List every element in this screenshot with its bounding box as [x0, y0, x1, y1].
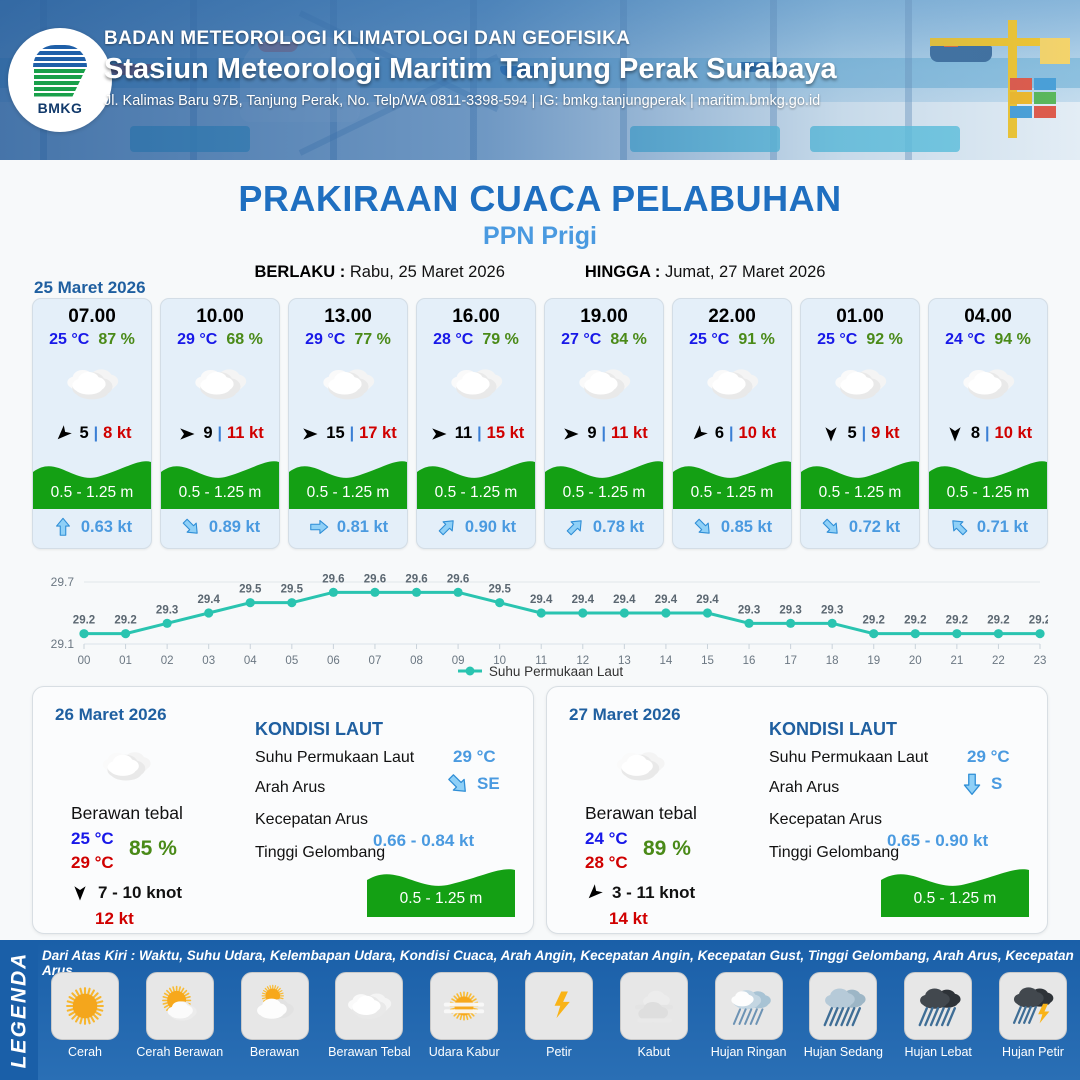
- air-temperature: 27 °C: [561, 331, 601, 349]
- svg-text:29.3: 29.3: [156, 604, 178, 616]
- sst-value: 29 °C: [967, 747, 1010, 767]
- current-row: 0.63 kt: [33, 512, 151, 542]
- panel-wind-range: 7 - 10 knot: [98, 883, 182, 903]
- daily-summary-panels: 26 Maret 2026 Berawan tebal 25 °C 29 °C …: [32, 686, 1048, 934]
- berawan-tebal-icon: [341, 978, 397, 1034]
- wave-section: 0.5 - 1.25 m: [929, 453, 1047, 509]
- berawan-tebal-icon: [443, 351, 509, 417]
- forecast-card[interactable]: 01.00 25 °C 92 % 5 |: [800, 298, 920, 549]
- legend-item: Hujan Sedang: [800, 972, 886, 1059]
- weather-condition-icon: [929, 353, 1047, 415]
- sea-condition-title: KONDISI LAUT: [769, 719, 897, 740]
- wave-height-band: [367, 861, 515, 917]
- humidity: 87 %: [98, 331, 134, 349]
- forecast-card[interactable]: 22.00 25 °C 91 % 6 |: [672, 298, 792, 549]
- current-speed: 0.90 kt: [465, 518, 516, 537]
- wind-row: 8 | 10 kt: [929, 424, 1047, 443]
- sst-value: 29 °C: [453, 747, 496, 767]
- air-temperature: 28 °C: [433, 331, 473, 349]
- forecast-time: 16.00: [417, 306, 535, 328]
- gust-speed: 11 kt: [227, 424, 264, 443]
- panel-weather-icon: [95, 735, 157, 802]
- wind-speed: 6: [715, 424, 724, 443]
- forecast-day-label: 25 Maret 2026: [34, 278, 146, 298]
- weather-condition-icon: [289, 353, 407, 415]
- svg-text:29.4: 29.4: [655, 594, 678, 606]
- current-direction-arrow-E: [308, 516, 330, 538]
- udara-kabur-icon: [436, 978, 492, 1034]
- wave-height: 0.5 - 1.25 m: [289, 484, 407, 502]
- legend-item-label: Udara Kabur: [429, 1045, 500, 1059]
- legend-item: Hujan Petir: [990, 972, 1076, 1059]
- panel-weather-icon: [609, 735, 671, 802]
- chart-legend-label: Suhu Permukaan Laut: [489, 664, 623, 679]
- temp-humidity-row: 25 °C 87 %: [33, 331, 151, 349]
- legend-bar: LEGENDA Dari Atas Kiri : Waktu, Suhu Uda…: [0, 940, 1080, 1080]
- wind-direction-arrow-E: [560, 425, 582, 443]
- current-direction-value: S: [991, 774, 1002, 794]
- wind-separator: |: [602, 425, 606, 443]
- current-direction-value: SE: [477, 774, 500, 794]
- svg-text:29.6: 29.6: [364, 573, 386, 585]
- legend-icon-box: [620, 972, 688, 1040]
- wave-height: 0.5 - 1.25 m: [545, 484, 663, 502]
- legend-icon-box: [715, 972, 783, 1040]
- chart-svg: 29.729.100010203040506070809101112131415…: [32, 560, 1048, 680]
- wave-section: 0.5 - 1.25 m: [801, 453, 919, 509]
- svg-text:29.4: 29.4: [530, 594, 553, 606]
- current-row: 0.72 kt: [801, 512, 919, 542]
- berawan-tebal-icon: [699, 351, 765, 417]
- current-speed: 0.81 kt: [337, 518, 388, 537]
- current-direction-label: Arah Arus: [769, 779, 839, 797]
- current-speed: 0.72 kt: [849, 518, 900, 537]
- current-speed-value: 0.66 - 0.84 kt: [373, 831, 474, 851]
- current-direction-arrow-S: [959, 771, 985, 797]
- humidity: 91 %: [738, 331, 774, 349]
- temp-humidity-row: 27 °C 84 %: [545, 331, 663, 349]
- wind-separator: |: [218, 425, 222, 443]
- wind-row: 5 | 8 kt: [33, 424, 151, 443]
- wave-height: 0.5 - 1.25 m: [161, 484, 279, 502]
- legend-icon-box: [51, 972, 119, 1040]
- air-temperature: 25 °C: [689, 331, 729, 349]
- forecast-time: 01.00: [801, 306, 919, 328]
- daily-summary-panel: 26 Maret 2026 Berawan tebal 25 °C 29 °C …: [32, 686, 534, 934]
- current-speed: 0.63 kt: [81, 518, 132, 537]
- current-speed: 0.71 kt: [977, 518, 1028, 537]
- wind-direction-arrow-SW: [688, 425, 710, 443]
- wind-speed: 15: [326, 424, 344, 443]
- valid-from-label: BERLAKU :: [255, 263, 346, 281]
- current-direction-arrow-SE: [692, 516, 714, 538]
- wind-separator: |: [862, 425, 866, 443]
- logo-text: BMKG: [38, 100, 83, 116]
- legend-icon-box: [241, 972, 309, 1040]
- sst-line-chart: 29.729.100010203040506070809101112131415…: [32, 560, 1048, 680]
- gust-speed: 15 kt: [487, 424, 525, 443]
- wave-section: 0.5 - 1.25 m: [161, 453, 279, 509]
- panel-condition: Berawan tebal: [585, 803, 697, 824]
- agency-name: BADAN METEOROLOGI KLIMATOLOGI DAN GEOFIS…: [104, 28, 1064, 50]
- legend-item-label: Kabut: [637, 1045, 670, 1059]
- air-temperature: 29 °C: [305, 331, 345, 349]
- svg-text:29.5: 29.5: [281, 584, 304, 596]
- weather-condition-icon: [545, 353, 663, 415]
- wave-section: 0.5 - 1.25 m: [417, 453, 535, 509]
- wind-row: 6 | 10 kt: [673, 424, 791, 443]
- legend-item-label: Cerah: [68, 1045, 102, 1059]
- wind-direction-arrow-E: [176, 425, 198, 443]
- berawan-tebal-icon: [187, 351, 253, 417]
- wind-row: 5 | 9 kt: [801, 424, 919, 443]
- forecast-card-strip: 07.00 25 °C 87 % 5 |: [32, 298, 1048, 549]
- legend-icon-box: [999, 972, 1067, 1040]
- humidity: 68 %: [226, 331, 262, 349]
- svg-text:29.2: 29.2: [946, 615, 968, 627]
- svg-text:29.1: 29.1: [51, 637, 75, 651]
- panel-wave-section: 0.5 - 1.25 m: [367, 865, 515, 917]
- berawan-tebal-icon: [315, 351, 381, 417]
- panel-gust: 14 kt: [609, 909, 648, 929]
- berawan-icon: [247, 978, 303, 1034]
- panel-gust: 12 kt: [95, 909, 134, 929]
- legend-item: Kabut: [611, 972, 697, 1059]
- chart-legend: Suhu Permukaan Laut: [0, 664, 1080, 680]
- wind-direction-arrow-SW: [583, 884, 605, 902]
- forecast-card[interactable]: 04.00 24 °C 94 % 8 |: [928, 298, 1048, 549]
- kabut-icon: [626, 978, 682, 1034]
- legend-item-label: Cerah Berawan: [136, 1045, 223, 1059]
- header-text-block: BADAN METEOROLOGI KLIMATOLOGI DAN GEOFIS…: [104, 28, 1064, 109]
- legend-icon-box: [335, 972, 403, 1040]
- air-temperature: 25 °C: [49, 331, 89, 349]
- svg-text:29.4: 29.4: [613, 594, 636, 606]
- hujan-lebat-icon: [910, 978, 966, 1034]
- humidity: 79 %: [482, 331, 518, 349]
- wind-speed: 8: [971, 424, 980, 443]
- svg-text:29.4: 29.4: [572, 594, 595, 606]
- contact-line: Jl. Kalimas Baru 97B, Tanjung Perak, No.…: [104, 93, 1064, 109]
- panel-humidity: 85 %: [129, 837, 177, 861]
- current-row: 0.78 kt: [545, 512, 663, 542]
- forecast-card[interactable]: 19.00 27 °C 84 % 9 |: [544, 298, 664, 549]
- current-speed-label: Kecepatan Arus: [255, 811, 368, 829]
- current-direction-arrow-SE: [445, 771, 471, 797]
- svg-text:29.7: 29.7: [51, 575, 75, 589]
- panel-wave-value: 0.5 - 1.25 m: [881, 890, 1029, 908]
- wind-separator: |: [729, 425, 733, 443]
- humidity: 84 %: [610, 331, 646, 349]
- panel-temp-max: 29 °C: [71, 853, 114, 873]
- legend-side-text: LEGENDA: [7, 952, 31, 1069]
- wind-speed: 9: [587, 424, 596, 443]
- current-direction-value-row: S: [959, 771, 1002, 797]
- wave-section: 0.5 - 1.25 m: [33, 453, 151, 509]
- berawan-tebal-icon: [571, 351, 637, 417]
- svg-text:29.5: 29.5: [488, 584, 511, 596]
- current-direction-arrow-N: [52, 516, 74, 538]
- legend-item: Cerah: [42, 972, 128, 1059]
- wind-direction-arrow-E: [428, 425, 450, 443]
- panel-wind-row: 7 - 10 knot: [69, 883, 182, 903]
- panel-date: 27 Maret 2026: [569, 705, 681, 725]
- valid-until: HINGGA : Jumat, 27 Maret 2026: [585, 263, 826, 282]
- wave-section: 0.5 - 1.25 m: [545, 453, 663, 509]
- weather-condition-icon: [673, 353, 791, 415]
- legend-item-label: Berawan Tebal: [328, 1045, 410, 1059]
- logo-leaf-icon: [34, 69, 86, 97]
- forecast-time: 19.00: [545, 306, 663, 328]
- svg-text:29.5: 29.5: [239, 584, 262, 596]
- air-temperature: 24 °C: [945, 331, 985, 349]
- daily-summary-panel: 27 Maret 2026 Berawan tebal 24 °C 28 °C …: [546, 686, 1048, 934]
- legend-item-label: Petir: [546, 1045, 572, 1059]
- valid-from: BERLAKU : Rabu, 25 Maret 2026: [255, 263, 505, 282]
- svg-text:29.6: 29.6: [405, 573, 427, 585]
- page-title: PRAKIRAAN CUACA PELABUHAN: [0, 178, 1080, 220]
- svg-text:29.2: 29.2: [1029, 615, 1048, 627]
- legend-icon-box: [904, 972, 972, 1040]
- wave-height-label: Tinggi Gelombang: [769, 844, 899, 862]
- legend-item: Udara Kabur: [421, 972, 507, 1059]
- current-speed: 0.89 kt: [209, 518, 260, 537]
- current-speed-value: 0.65 - 0.90 kt: [887, 831, 988, 851]
- panel-wind-row: 3 - 11 knot: [583, 883, 695, 903]
- legend-item-label: Hujan Petir: [1002, 1045, 1064, 1059]
- chart-legend-swatch: [457, 665, 483, 680]
- wave-height: 0.5 - 1.25 m: [929, 484, 1047, 502]
- valid-until-value: Jumat, 27 Maret 2026: [665, 263, 826, 281]
- svg-text:29.2: 29.2: [904, 615, 926, 627]
- wind-speed: 9: [203, 424, 212, 443]
- wind-separator: |: [94, 425, 98, 443]
- svg-text:29.6: 29.6: [447, 573, 469, 585]
- legend-item-label: Hujan Sedang: [804, 1045, 883, 1059]
- sea-condition-title: KONDISI LAUT: [255, 719, 383, 740]
- legend-item: Hujan Ringan: [706, 972, 792, 1059]
- air-temperature: 29 °C: [177, 331, 217, 349]
- petir-icon: [531, 978, 587, 1034]
- valid-until-label: HINGGA :: [585, 263, 660, 281]
- berawan-tebal-icon: [955, 351, 1021, 417]
- wave-height: 0.5 - 1.25 m: [673, 484, 791, 502]
- forecast-card[interactable]: 10.00 29 °C 68 % 9 |: [160, 298, 280, 549]
- current-direction-arrow-NW: [948, 516, 970, 538]
- weather-condition-icon: [417, 353, 535, 415]
- legend-item-label: Berawan: [250, 1045, 299, 1059]
- legend-item-label: Hujan Lebat: [904, 1045, 971, 1059]
- panel-date: 26 Maret 2026: [55, 705, 167, 725]
- valid-from-value: Rabu, 25 Maret 2026: [350, 263, 505, 281]
- wind-speed: 11: [455, 424, 472, 443]
- weather-condition-icon: [801, 353, 919, 415]
- forecast-time: 10.00: [161, 306, 279, 328]
- svg-text:29.2: 29.2: [987, 615, 1009, 627]
- forecast-card[interactable]: 16.00 28 °C 79 % 11 |: [416, 298, 536, 549]
- svg-text:29.4: 29.4: [696, 594, 719, 606]
- wave-section: 0.5 - 1.25 m: [673, 453, 791, 509]
- svg-text:29.3: 29.3: [738, 604, 760, 616]
- wind-direction-arrow-E: [299, 425, 321, 443]
- current-direction-value-row: SE: [445, 771, 500, 797]
- temp-humidity-row: 29 °C 77 %: [289, 331, 407, 349]
- temp-humidity-row: 24 °C 94 %: [929, 331, 1047, 349]
- svg-text:29.3: 29.3: [779, 604, 801, 616]
- panel-wind-range: 3 - 11 knot: [612, 883, 695, 903]
- legend-icon-box: [430, 972, 498, 1040]
- legend-item: Cerah Berawan: [137, 972, 223, 1059]
- temp-humidity-row: 25 °C 91 %: [673, 331, 791, 349]
- forecast-card[interactable]: 07.00 25 °C 87 % 5 |: [32, 298, 152, 549]
- wind-speed: 5: [79, 424, 88, 443]
- wind-direction-arrow-SW: [52, 425, 74, 443]
- temp-humidity-row: 29 °C 68 %: [161, 331, 279, 349]
- gust-speed: 10 kt: [995, 424, 1033, 443]
- panel-temp-max: 28 °C: [585, 853, 628, 873]
- legend-item: Berawan: [232, 972, 318, 1059]
- wind-row: 9 | 11 kt: [545, 424, 663, 443]
- svg-text:29.2: 29.2: [863, 615, 885, 627]
- svg-text:29.3: 29.3: [821, 604, 843, 616]
- sst-label: Suhu Permukaan Laut: [255, 749, 414, 767]
- panel-temp-min: 25 °C: [71, 829, 114, 849]
- wave-height: 0.5 - 1.25 m: [33, 484, 151, 502]
- berawan-tebal-icon: [827, 351, 893, 417]
- humidity: 77 %: [354, 331, 390, 349]
- gust-speed: 9 kt: [871, 424, 899, 443]
- temp-humidity-row: 25 °C 92 %: [801, 331, 919, 349]
- panel-humidity: 89 %: [643, 837, 691, 861]
- current-direction-label: Arah Arus: [255, 779, 325, 797]
- legend-item-label: Hujan Ringan: [711, 1045, 787, 1059]
- current-direction-arrow-SE: [820, 516, 842, 538]
- weather-condition-icon: [161, 353, 279, 415]
- current-row: 0.71 kt: [929, 512, 1047, 542]
- forecast-time: 07.00: [33, 306, 151, 328]
- wave-height: 0.5 - 1.25 m: [417, 484, 535, 502]
- svg-text:29.6: 29.6: [322, 573, 344, 585]
- current-row: 0.81 kt: [289, 512, 407, 542]
- legend-icon-box: [146, 972, 214, 1040]
- legend-item: Hujan Lebat: [895, 972, 981, 1059]
- wind-row: 15 | 17 kt: [289, 424, 407, 443]
- wind-separator: |: [477, 425, 481, 443]
- wind-direction-arrow-S: [820, 425, 842, 443]
- wave-height-label: Tinggi Gelombang: [255, 844, 385, 862]
- air-temperature: 25 °C: [817, 331, 857, 349]
- wave-section: 0.5 - 1.25 m: [289, 453, 407, 509]
- wave-height: 0.5 - 1.25 m: [801, 484, 919, 502]
- current-direction-arrow-NE: [564, 516, 586, 538]
- wind-row: 9 | 11 kt: [161, 424, 279, 443]
- legend-icon-box: [525, 972, 593, 1040]
- humidity: 94 %: [994, 331, 1030, 349]
- bmkg-logo: BMKG: [8, 28, 112, 132]
- humidity: 92 %: [866, 331, 902, 349]
- wind-speed: 5: [847, 424, 856, 443]
- wave-height-band: [881, 861, 1029, 917]
- cerah-berawan-icon: [152, 978, 208, 1034]
- current-speed: 0.78 kt: [593, 518, 644, 537]
- berawan-tebal-icon: [95, 735, 157, 797]
- current-speed: 0.85 kt: [721, 518, 772, 537]
- wind-direction-arrow-S: [69, 884, 91, 902]
- current-row: 0.85 kt: [673, 512, 791, 542]
- station-name: Stasiun Meteorologi Maritim Tanjung Pera…: [104, 53, 1064, 86]
- svg-text:29.2: 29.2: [73, 615, 95, 627]
- current-row: 0.89 kt: [161, 512, 279, 542]
- svg-text:29.2: 29.2: [114, 615, 136, 627]
- validity-row: BERLAKU : Rabu, 25 Maret 2026 HINGGA : J…: [0, 263, 1080, 282]
- logo-arc-icon: [33, 45, 87, 67]
- sst-label: Suhu Permukaan Laut: [769, 749, 928, 767]
- wind-row: 11 | 15 kt: [417, 424, 535, 443]
- forecast-card[interactable]: 13.00 29 °C 77 % 15 |: [288, 298, 408, 549]
- forecast-time: 22.00: [673, 306, 791, 328]
- berawan-tebal-icon: [59, 351, 125, 417]
- gust-speed: 11 kt: [611, 424, 648, 443]
- current-row: 0.90 kt: [417, 512, 535, 542]
- panel-wave-value: 0.5 - 1.25 m: [367, 890, 515, 908]
- legend-items: Cerah Cerah Berawan Berawan: [42, 972, 1076, 1059]
- forecast-time: 13.00: [289, 306, 407, 328]
- wind-direction-arrow-S: [944, 425, 966, 443]
- wind-separator: |: [985, 425, 989, 443]
- gust-speed: 8 kt: [103, 424, 131, 443]
- temp-humidity-row: 28 °C 79 %: [417, 331, 535, 349]
- gust-speed: 17 kt: [359, 424, 397, 443]
- gust-speed: 10 kt: [739, 424, 777, 443]
- hujan-petir-icon: [1005, 978, 1061, 1034]
- weather-condition-icon: [33, 353, 151, 415]
- legend-item: Petir: [516, 972, 602, 1059]
- svg-text:29.4: 29.4: [198, 594, 221, 606]
- panel-condition: Berawan tebal: [71, 803, 183, 824]
- current-speed-label: Kecepatan Arus: [769, 811, 882, 829]
- legend-icon-box: [809, 972, 877, 1040]
- hujan-sedang-icon: [815, 978, 871, 1034]
- panel-wave-section: 0.5 - 1.25 m: [881, 865, 1029, 917]
- legend-item: Berawan Tebal: [326, 972, 412, 1059]
- legend-side-label: LEGENDA: [0, 940, 38, 1080]
- forecast-time: 04.00: [929, 306, 1047, 328]
- page-header: BMKG BADAN METEOROLOGI KLIMATOLOGI DAN G…: [0, 0, 1080, 160]
- berawan-tebal-icon: [609, 735, 671, 797]
- hujan-ringan-icon: [721, 978, 777, 1034]
- wind-separator: |: [350, 425, 354, 443]
- current-direction-arrow-NE: [436, 516, 458, 538]
- current-direction-arrow-SE: [180, 516, 202, 538]
- cerah-icon: [57, 978, 113, 1034]
- page-subtitle: PPN Prigi: [0, 222, 1080, 251]
- panel-temp-min: 24 °C: [585, 829, 628, 849]
